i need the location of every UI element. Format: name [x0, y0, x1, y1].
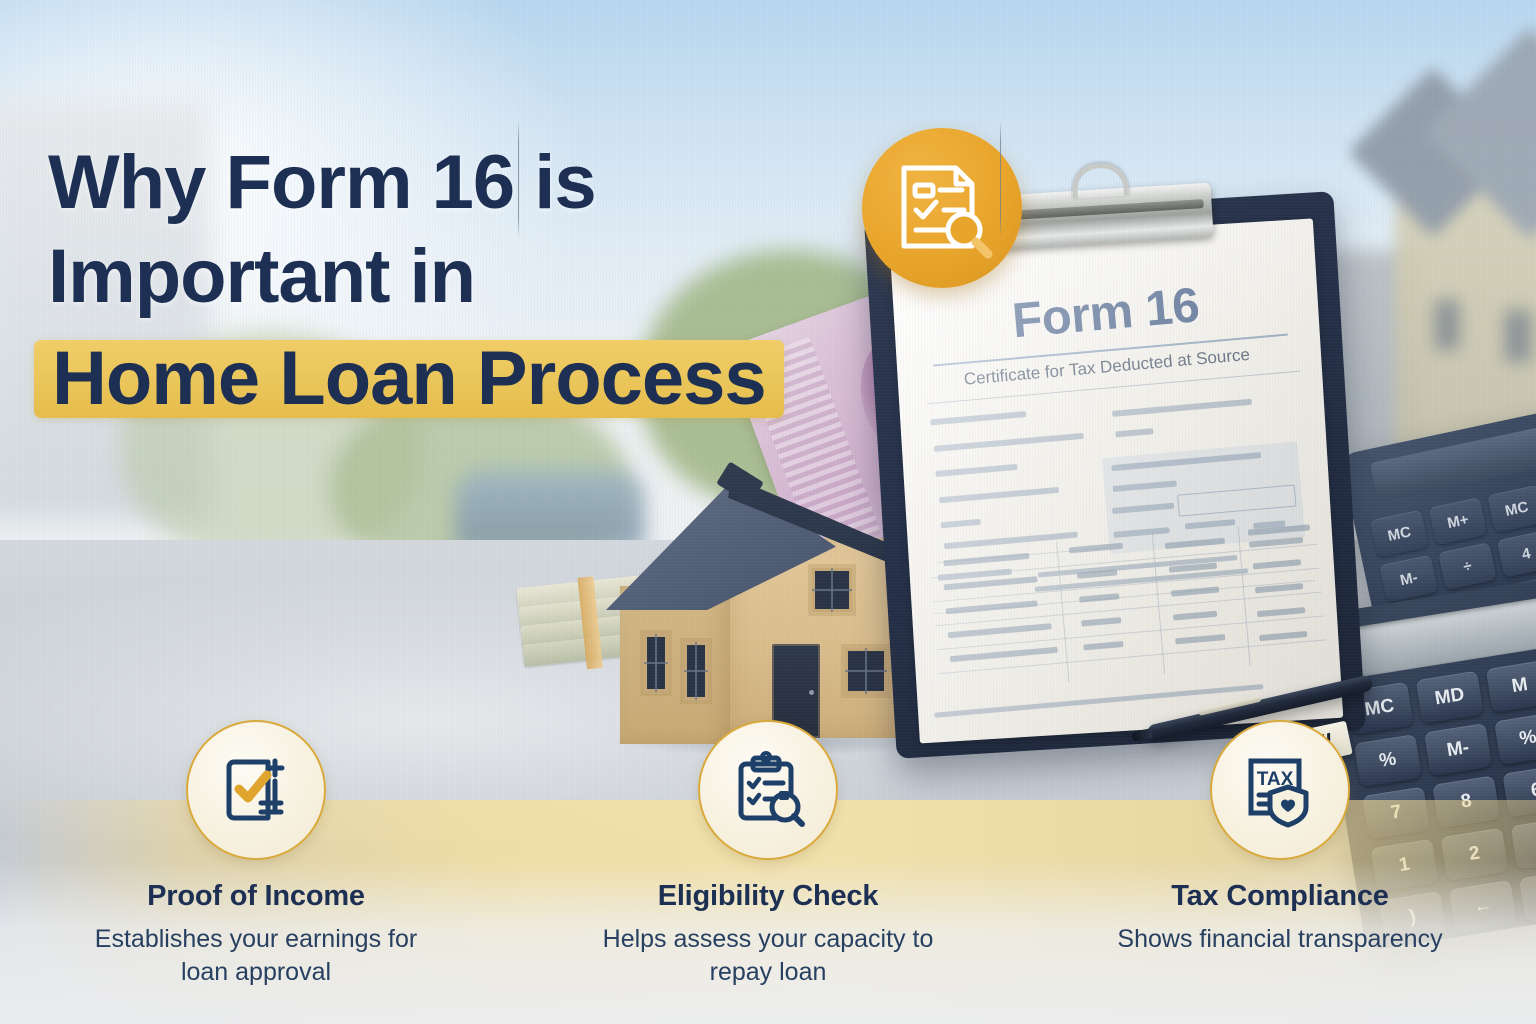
card-divider — [1000, 120, 1001, 238]
house-window — [845, 648, 887, 694]
calculator-key: M+ — [1429, 497, 1488, 545]
headline-highlight-text: Home Loan Process — [48, 332, 770, 426]
background-house — [1395, 150, 1536, 450]
feature-card-description: Shows financial transparency — [1117, 923, 1442, 956]
calculator-key: M- — [1379, 555, 1438, 603]
feature-card-proof-of-income: Proof of Income Establishes your earning… — [0, 720, 512, 1024]
house-window — [644, 634, 668, 692]
feature-card-tax-compliance: TAX Tax Compliance Shows financial trans… — [1024, 720, 1536, 1024]
document-magnifier-badge — [862, 128, 1022, 288]
document-magnifier-icon — [888, 154, 996, 262]
calculator-key: MC — [1370, 510, 1429, 558]
tax-shield-icon: TAX — [1241, 751, 1319, 829]
house-window — [812, 568, 852, 612]
calculator-key: MD — [1416, 671, 1484, 724]
document-check-icon-circle — [186, 720, 326, 860]
form-subtitle: Certificate for Tax Deducted at Source — [963, 345, 1251, 390]
form-title: Form 16 — [1010, 277, 1201, 349]
calculator-key: M — [1486, 660, 1536, 713]
headline-line-2: Important in — [48, 230, 868, 324]
feature-card-title: Eligibility Check — [658, 880, 879, 913]
form-16-document: Form 16 Certificate for Tax Deducted at … — [889, 218, 1343, 743]
feature-cards: Proof of Income Establishes your earning… — [0, 720, 1536, 1024]
feature-card-eligibility-check: Eligibility Check Helps assess your capa… — [512, 720, 1024, 1024]
document-check-icon — [217, 751, 295, 829]
house-window — [684, 642, 708, 700]
feature-card-title: Tax Compliance — [1171, 880, 1388, 913]
calculator-key: MC — [1487, 485, 1536, 533]
calculator-key: ÷ — [1438, 542, 1497, 590]
feature-card-description: Establishes your earnings for loan appro… — [76, 923, 436, 989]
banner-canvas: MC M+ MC % M- ÷ 4 5 9 7 1 2 MC MD M % M-… — [0, 0, 1536, 1024]
calculator-key: 4 — [1497, 530, 1536, 578]
headline-block: Why Form 16 is Important in Home Loan Pr… — [48, 136, 868, 426]
house-model — [600, 468, 920, 740]
feature-card-description: Helps assess your capacity to repay loan — [588, 923, 948, 989]
headline-line-1: Why Form 16 is — [48, 136, 868, 230]
feature-card-title: Proof of Income — [147, 880, 365, 913]
clipboard-search-icon — [729, 751, 807, 829]
clipboard-search-icon-circle — [698, 720, 838, 860]
tax-shield-icon-circle: TAX — [1210, 720, 1350, 860]
headline-highlight-wrap: Home Loan Process — [48, 332, 770, 426]
